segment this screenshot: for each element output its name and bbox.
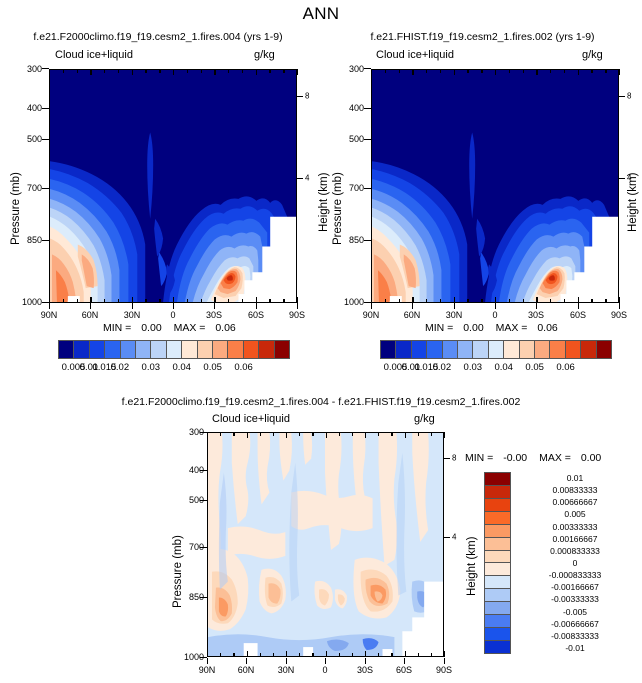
panel-title-difference: f.e21.F2000climo.f19_f19.cesm2_1.fires.0…	[71, 396, 571, 408]
colorbar-swatch	[259, 341, 274, 358]
colorbar-swatch	[485, 615, 510, 628]
minmax-control: MIN = 0.00 MAX = 0.06	[425, 322, 558, 334]
major-tick	[326, 432, 327, 438]
variable-label-test: Cloud ice+liquid	[55, 49, 133, 61]
colorbar-swatch	[535, 341, 550, 358]
minor-tick	[233, 432, 234, 436]
colorbar-swatch	[412, 341, 427, 358]
major-tick	[405, 432, 406, 438]
major-tick	[297, 69, 298, 75]
minor-tick	[378, 653, 379, 657]
minor-tick	[269, 69, 270, 73]
minor-tick	[201, 299, 202, 303]
colorbar-test	[58, 340, 290, 359]
colorbar-tick-label: 0.06	[234, 362, 253, 373]
colorbar-tick-label: -0.00166667	[519, 582, 631, 592]
minor-tick	[187, 69, 188, 73]
major-tick	[405, 651, 406, 657]
major-tick	[132, 69, 133, 75]
minor-tick	[273, 432, 274, 436]
colorbar-tick-label: 0.04	[172, 362, 191, 373]
minor-tick	[299, 432, 300, 436]
colorbar-swatch	[151, 341, 166, 358]
colorbar-swatch	[198, 341, 213, 358]
minor-tick	[391, 653, 392, 657]
colorbar-tick-label: -0.00666667	[519, 619, 631, 629]
colorbar-swatch	[167, 341, 182, 358]
colorbar-swatch	[275, 341, 289, 358]
major-tick	[132, 297, 133, 303]
minor-tick	[228, 299, 229, 303]
minor-tick	[220, 653, 221, 657]
major-tick	[412, 297, 413, 303]
units-label-control: g/kg	[582, 49, 603, 61]
colorbar-swatch	[485, 486, 510, 499]
minor-tick	[63, 69, 64, 73]
minor-tick	[481, 69, 482, 73]
minor-tick	[378, 432, 379, 436]
major-tick	[444, 651, 445, 657]
colorbar-swatch	[485, 551, 510, 564]
minor-tick	[242, 299, 243, 303]
major-tick	[326, 651, 327, 657]
major-tick	[536, 69, 537, 75]
minor-tick	[399, 299, 400, 303]
minmax-test: MIN = 0.00 MAX = 0.06	[103, 322, 236, 334]
minor-tick	[426, 299, 427, 303]
minor-tick	[352, 653, 353, 657]
colorbar-swatch	[136, 341, 151, 358]
colorbar-tick-label: 0.00833333	[519, 485, 631, 495]
variable-label-control: Cloud ice+liquid	[376, 49, 454, 61]
colorbar-swatch	[182, 341, 197, 358]
minor-tick	[431, 432, 432, 436]
colorbar-swatch	[59, 341, 74, 358]
colorbar-tick-label: 0.03	[142, 362, 161, 373]
plot-area-test	[49, 69, 297, 303]
major-tick	[173, 297, 174, 303]
minor-tick	[145, 299, 146, 303]
minor-tick	[159, 299, 160, 303]
minor-tick	[481, 299, 482, 303]
minor-tick	[283, 299, 284, 303]
colorbar-swatch	[427, 341, 442, 358]
colorbar-tick-label: 0.00333333	[519, 522, 631, 532]
minor-tick	[418, 432, 419, 436]
minor-tick	[391, 432, 392, 436]
colorbar-swatch	[485, 589, 510, 602]
colorbar-swatch	[485, 473, 510, 486]
minor-tick	[159, 69, 160, 73]
minor-tick	[77, 69, 78, 73]
colorbar-swatch	[485, 512, 510, 525]
minor-tick	[118, 299, 119, 303]
minor-tick	[399, 69, 400, 73]
minor-tick	[77, 299, 78, 303]
minor-tick	[260, 432, 261, 436]
minor-tick	[385, 299, 386, 303]
minor-tick	[591, 299, 592, 303]
major-tick	[495, 69, 496, 75]
colorbar-swatch	[105, 341, 120, 358]
minor-tick	[523, 299, 524, 303]
colorbar-swatch	[550, 341, 565, 358]
major-tick	[578, 297, 579, 303]
major-tick	[286, 432, 287, 438]
minor-tick	[339, 653, 340, 657]
minor-tick	[228, 69, 229, 73]
colorbar-tick-label: 0.000833333	[519, 546, 631, 556]
major-tick	[371, 297, 372, 303]
colorbar-tick-label: 0	[519, 558, 631, 568]
colorbar-tick-label: 0.005	[519, 509, 631, 519]
panel-title-test: f.e21.F2000climo.f19_f19.cesm2_1.fires.0…	[8, 31, 308, 43]
major-tick	[207, 432, 208, 438]
colorbar-swatch	[473, 341, 488, 358]
colorbar-swatch	[597, 341, 611, 358]
minor-tick	[440, 299, 441, 303]
major-tick	[454, 69, 455, 75]
colorbar-tick-label: -0.00333333	[519, 594, 631, 604]
minor-tick	[523, 69, 524, 73]
colorbar-tick-label: 0.05	[525, 362, 544, 373]
colorbar-swatch	[485, 641, 510, 653]
colorbar-swatch	[485, 499, 510, 512]
minor-tick	[352, 432, 353, 436]
plot-area-control	[371, 69, 619, 303]
major-tick	[412, 69, 413, 75]
colorbar-swatch	[520, 341, 535, 358]
colorbar-tick-label: 0.02	[111, 362, 130, 373]
units-label-test: g/kg	[254, 49, 275, 61]
major-tick	[49, 297, 50, 303]
colorbar-swatch	[443, 341, 458, 358]
contour-field-difference	[208, 433, 443, 656]
minor-tick	[104, 299, 105, 303]
minor-tick	[564, 69, 565, 73]
minor-tick	[431, 653, 432, 657]
major-tick	[286, 651, 287, 657]
panel-title-control: f.e21.FHIST.f19_f19.cesm2_1.fires.002 (y…	[330, 31, 635, 43]
major-tick	[49, 69, 50, 75]
colorbar-swatch	[90, 341, 105, 358]
minor-tick	[605, 299, 606, 303]
major-tick	[214, 297, 215, 303]
colorbar-swatch	[489, 341, 504, 358]
colorbar-tick-label: 0.00666667	[519, 497, 631, 507]
colorbar-tick-label: 0.01	[519, 473, 631, 483]
major-tick	[371, 69, 372, 75]
minor-tick	[104, 69, 105, 73]
colorbar-tick-label: 0.00166667	[519, 534, 631, 544]
colorbar-swatch	[504, 341, 519, 358]
major-tick	[297, 297, 298, 303]
minor-tick	[467, 299, 468, 303]
colorbar-swatch	[485, 525, 510, 538]
minor-tick	[509, 299, 510, 303]
minor-tick	[269, 299, 270, 303]
minor-tick	[312, 653, 313, 657]
colorbar-swatch	[485, 563, 510, 576]
minor-tick	[312, 432, 313, 436]
minor-tick	[260, 653, 261, 657]
colorbar-difference	[484, 472, 511, 654]
colorbar-swatch	[458, 341, 473, 358]
minor-tick	[187, 299, 188, 303]
minor-tick	[509, 69, 510, 73]
major-tick	[90, 297, 91, 303]
major-tick	[536, 297, 537, 303]
minor-tick	[145, 69, 146, 73]
contour-field-test	[50, 70, 296, 302]
colorbar-swatch	[228, 341, 243, 358]
major-tick	[495, 297, 496, 303]
minor-tick	[63, 299, 64, 303]
colorbar-swatch	[485, 602, 510, 615]
major-tick	[90, 69, 91, 75]
minor-tick	[591, 69, 592, 73]
page-title: ANN	[0, 4, 642, 24]
colorbar-swatch	[485, 538, 510, 551]
colorbar-tick-label: -0.00833333	[519, 631, 631, 641]
major-tick	[365, 651, 366, 657]
minor-tick	[283, 69, 284, 73]
minor-tick	[550, 299, 551, 303]
colorbar-swatch	[74, 341, 89, 358]
minor-tick	[605, 69, 606, 73]
colorbar-swatch	[485, 628, 510, 641]
minor-tick	[233, 653, 234, 657]
minor-tick	[339, 432, 340, 436]
height-axis-label-difference: Height (km)	[466, 537, 478, 596]
colorbar-swatch	[566, 341, 581, 358]
minor-tick	[242, 69, 243, 73]
major-tick	[214, 69, 215, 75]
colorbar-swatch	[121, 341, 136, 358]
major-tick	[578, 69, 579, 75]
units-label-difference: g/kg	[414, 413, 435, 425]
colorbar-swatch	[581, 341, 596, 358]
variable-label-difference: Cloud ice+liquid	[212, 413, 290, 425]
major-tick	[454, 297, 455, 303]
major-tick	[247, 651, 248, 657]
colorbar-swatch	[381, 341, 396, 358]
minmax-difference: MIN = -0.00 MAX = 0.00	[465, 452, 601, 464]
colorbar-tick-label: -0.000833333	[519, 570, 631, 580]
minor-tick	[426, 69, 427, 73]
minor-tick	[385, 69, 386, 73]
minor-tick	[273, 653, 274, 657]
major-tick	[173, 69, 174, 75]
colorbar-tick-label: 0.03	[464, 362, 483, 373]
colorbar-tick-label: 0.05	[203, 362, 222, 373]
minor-tick	[467, 69, 468, 73]
major-tick	[619, 297, 620, 303]
minor-tick	[201, 69, 202, 73]
colorbar-swatch	[485, 576, 510, 589]
colorbar-tick-label: 0.06	[556, 362, 575, 373]
colorbar-tick-label: 0.02	[433, 362, 452, 373]
contour-field-control	[372, 70, 618, 302]
minor-tick	[118, 69, 119, 73]
major-tick	[444, 432, 445, 438]
colorbar-swatch	[213, 341, 228, 358]
major-tick	[207, 651, 208, 657]
colorbar-tick-label: -0.01	[519, 643, 631, 653]
major-tick	[247, 432, 248, 438]
minor-tick	[440, 69, 441, 73]
major-tick	[619, 69, 620, 75]
minor-tick	[220, 432, 221, 436]
minor-tick	[550, 69, 551, 73]
colorbar-swatch	[244, 341, 259, 358]
colorbar-tick-label: -0.005	[519, 607, 631, 617]
major-tick	[256, 297, 257, 303]
minor-tick	[299, 653, 300, 657]
plot-area-difference	[207, 432, 444, 657]
major-tick	[365, 432, 366, 438]
major-tick	[256, 69, 257, 75]
height-axis-label-test: Height (km)	[318, 173, 330, 232]
minor-tick	[564, 299, 565, 303]
colorbar-swatch	[396, 341, 411, 358]
colorbar-control	[380, 340, 612, 359]
minor-tick	[418, 653, 419, 657]
colorbar-tick-label: 0.04	[494, 362, 513, 373]
